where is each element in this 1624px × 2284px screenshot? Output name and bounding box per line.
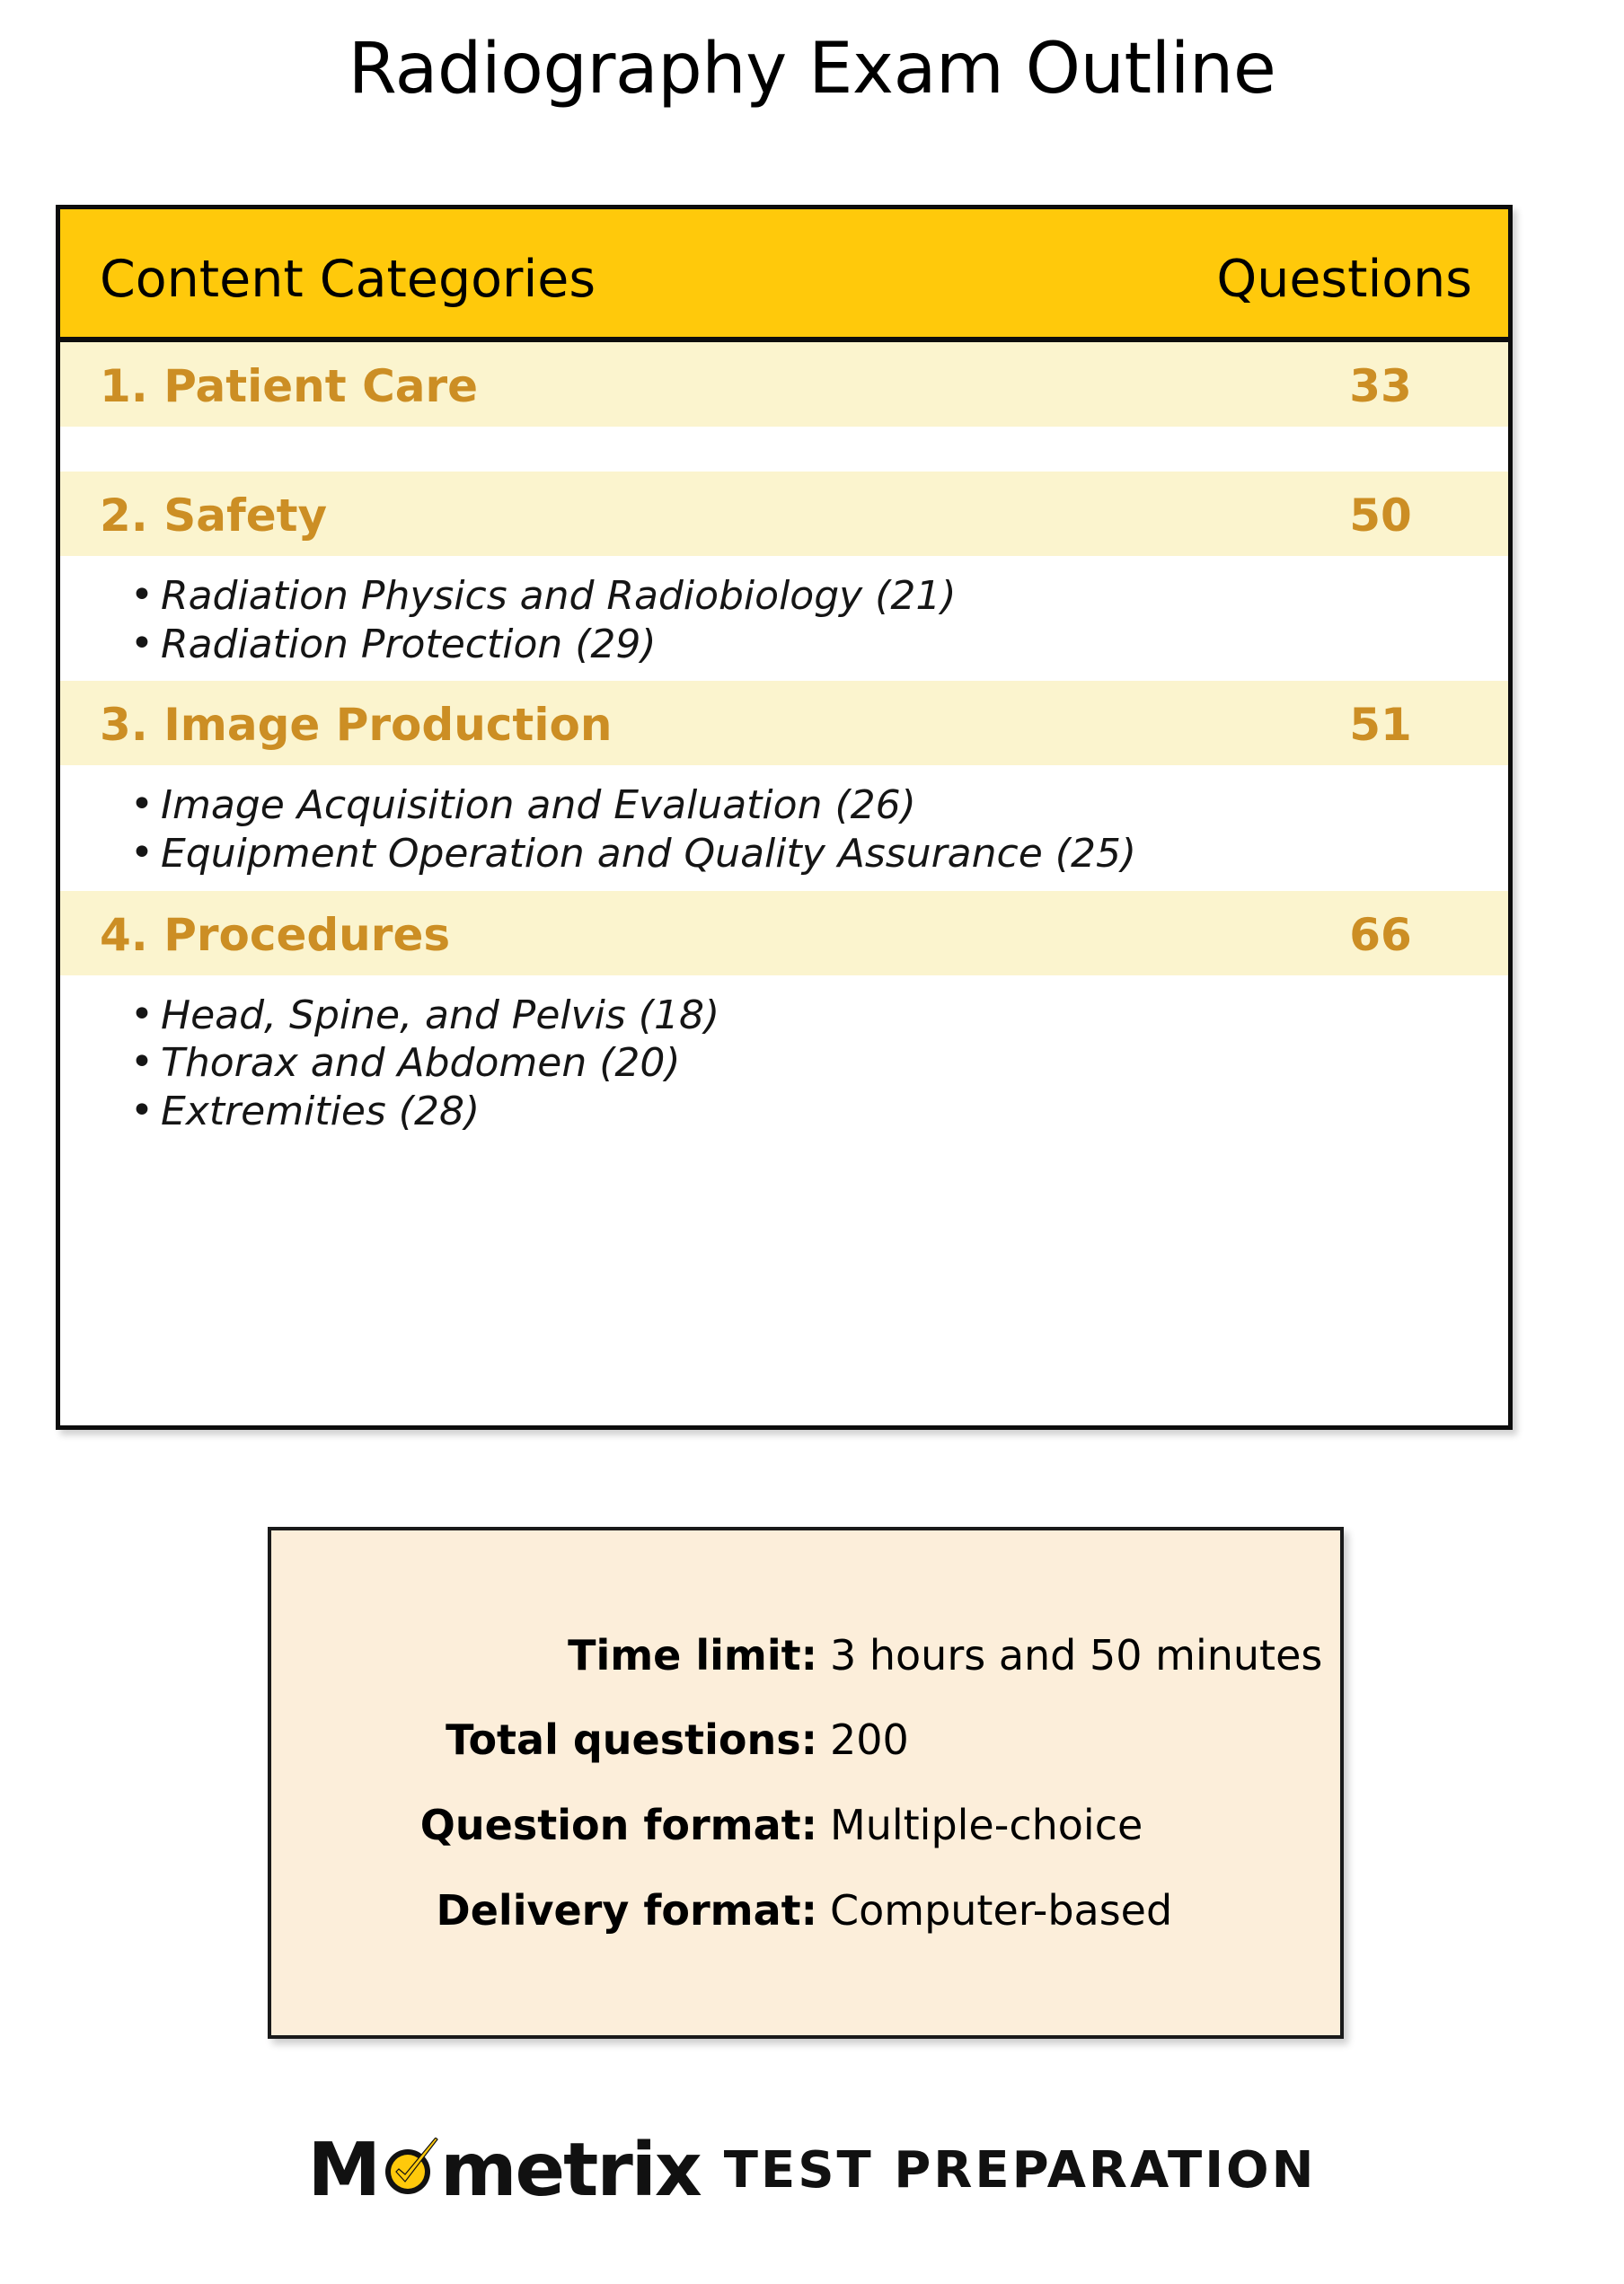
list-item: • Head, Spine, and Pelvis (18) — [60, 992, 1508, 1040]
mometrix-check-icon — [380, 2138, 439, 2197]
list-item: • Thorax and Abdomen (20) — [60, 1039, 1508, 1088]
table-row: 1. Patient Care 33 — [60, 342, 1508, 427]
detail-label: Question format: — [271, 1803, 830, 1848]
list-item: • Image Acquisition and Evaluation (26) — [60, 781, 1508, 830]
table-row: 2. Safety 50 — [60, 472, 1508, 556]
footer-logo: M metrix TEST PREPARATION — [0, 2134, 1624, 2208]
bullet-icon: • — [130, 991, 154, 1039]
detail-row-delivery-format: Delivery format: Computer-based — [271, 1888, 1340, 1934]
category-name: 2. Safety — [100, 493, 327, 538]
exam-details-box: Time limit: 3 hours and 50 minutes Total… — [268, 1527, 1344, 2039]
subtopic-list: • Image Acquisition and Evaluation (26) … — [60, 765, 1508, 890]
category-name: 3. Image Production — [100, 702, 612, 747]
bullet-icon: • — [130, 1087, 154, 1135]
table-header-row: Content Categories Questions — [60, 209, 1508, 342]
column-header-questions: Questions — [1216, 254, 1472, 305]
detail-label: Time limit: — [271, 1633, 830, 1679]
category-name: 4. Procedures — [100, 913, 450, 957]
list-item: • Radiation Physics and Radiobiology (21… — [60, 572, 1508, 621]
exam-outline-table: Content Categories Questions 1. Patient … — [56, 205, 1513, 1430]
subtopic-spacer — [60, 427, 1508, 472]
mometrix-wordmark: M metrix — [307, 2134, 700, 2208]
detail-label: Delivery format: — [271, 1888, 830, 1934]
subtopic-list: • Head, Spine, and Pelvis (18) • Thorax … — [60, 975, 1508, 1149]
bullet-icon: • — [130, 620, 154, 668]
column-header-content-categories: Content Categories — [100, 254, 596, 305]
page-title: Radiography Exam Outline — [0, 34, 1624, 104]
subtopic-label: Thorax and Abdomen (20) — [161, 1040, 681, 1086]
detail-value: Multiple-choice — [830, 1803, 1143, 1848]
detail-row-time-limit: Time limit: 3 hours and 50 minutes — [271, 1633, 1340, 1679]
detail-label: Total questions: — [271, 1717, 830, 1763]
detail-row-total-questions: Total questions: 200 — [271, 1717, 1340, 1763]
detail-value: 200 — [830, 1717, 909, 1763]
subtopic-label: Radiation Physics and Radiobiology (21) — [161, 573, 957, 619]
subtopic-label: Radiation Protection (29) — [161, 622, 657, 667]
detail-value: Computer-based — [830, 1888, 1172, 1934]
bullet-icon: • — [130, 571, 154, 620]
list-item: • Equipment Operation and Quality Assura… — [60, 830, 1508, 878]
bullet-icon: • — [130, 780, 154, 829]
detail-row-question-format: Question format: Multiple-choice — [271, 1803, 1340, 1848]
table-row: 4. Procedures 66 — [60, 891, 1508, 975]
bullet-icon: • — [130, 1038, 154, 1087]
subtopic-label: Extremities (28) — [161, 1089, 480, 1134]
list-item: • Extremities (28) — [60, 1088, 1508, 1136]
subtopic-label: Equipment Operation and Quality Assuranc… — [161, 831, 1136, 877]
category-question-count: 66 — [1309, 913, 1452, 957]
bullet-icon: • — [130, 829, 154, 877]
subtopic-list: • Radiation Physics and Radiobiology (21… — [60, 556, 1508, 681]
logo-tagline: TEST PREPARATION — [724, 2146, 1317, 2196]
brand-text-metrix: metrix — [440, 2134, 701, 2208]
category-question-count: 51 — [1309, 702, 1452, 747]
subtopic-label: Head, Spine, and Pelvis (18) — [161, 992, 719, 1038]
detail-value: 3 hours and 50 minutes — [830, 1633, 1322, 1679]
brand-text-m: M — [307, 2134, 379, 2208]
category-question-count: 33 — [1309, 364, 1452, 409]
list-item: • Radiation Protection (29) — [60, 621, 1508, 669]
table-row: 3. Image Production 51 — [60, 681, 1508, 765]
category-question-count: 50 — [1309, 493, 1452, 538]
subtopic-label: Image Acquisition and Evaluation (26) — [161, 782, 916, 828]
category-name: 1. Patient Care — [100, 364, 478, 409]
